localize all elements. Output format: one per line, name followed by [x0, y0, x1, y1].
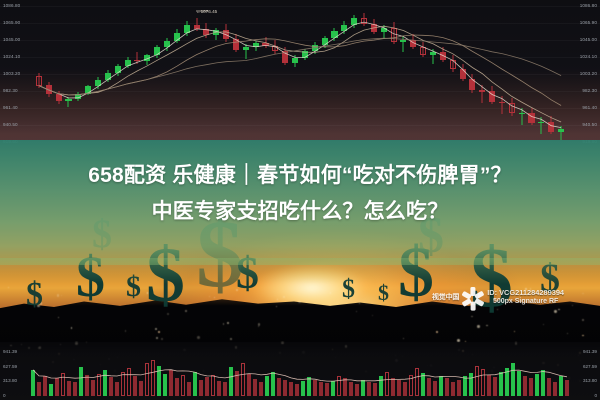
price-axis-tick-right: 961.40	[582, 105, 597, 110]
watermark: 视觉中国 ID: VCG211284289394 500px Signature…	[432, 286, 564, 308]
price-axis-tick-right: 1065.90	[580, 20, 597, 25]
moving-average-line	[39, 22, 561, 128]
headline-line-1: 658配资 乐健康｜春节如何“吃对不伤脾胃”？	[0, 158, 600, 194]
watermark-license: 500px Signature RF	[487, 297, 564, 306]
headline-line-2: 中医专家支招吃什么？怎么吃？	[0, 194, 600, 230]
price-axis-tick-left: 1086.80	[3, 3, 20, 8]
volume-axis-tick-left: 627.59	[3, 364, 17, 369]
watermark-text: ID: VCG211284289394 500px Signature RF	[487, 288, 564, 306]
price-axis-tick-right: 1003.20	[580, 71, 597, 76]
watermark-id: ID: VCG211284289394	[487, 288, 564, 297]
price-axis-tick-left: 940.50	[3, 122, 18, 127]
price-annotation-label: ←1076.45	[196, 9, 217, 14]
price-axis-tick-left: 1045.00	[3, 37, 20, 42]
price-axis-tick-right: 982.30	[582, 88, 597, 93]
asterisk-petal	[474, 298, 484, 307]
green-overlay-fade	[0, 258, 600, 284]
asterisk-petal	[471, 302, 476, 311]
price-axis-tick-right: 940.50	[582, 122, 597, 127]
price-axis-tick-left: 1024.10	[3, 54, 20, 59]
volume-moving-average-line	[0, 342, 600, 400]
moving-average-line	[39, 35, 561, 106]
volume-axis-tick-left: 0	[3, 393, 6, 398]
volume-axis-tick-right: 313.80	[583, 378, 597, 383]
price-axis-tick-right: 1045.00	[580, 37, 597, 42]
asterisk-burst-icon	[462, 286, 484, 308]
volume-axis-tick-left: 941.39	[3, 349, 17, 354]
moving-average-line	[39, 38, 561, 95]
volume-axis-tick-right: 0	[594, 393, 597, 398]
dollar-sign-icon: $	[378, 282, 389, 304]
headline-block: 658配资 乐健康｜春节如何“吃对不伤脾胃”？ 中医专家支招吃什么？怎么吃？	[0, 158, 600, 230]
price-candlestick-chart: 1086.801065.901045.001024.101003.20982.3…	[0, 0, 600, 152]
volume-axis-tick-right: 627.59	[583, 364, 597, 369]
volume-axis-tick-right: 941.39	[583, 349, 597, 354]
price-axis-tick-left: 1065.90	[3, 20, 20, 25]
moving-average-line	[39, 26, 561, 122]
volume-ma-line	[33, 370, 567, 382]
volume-axis-tick-left: 313.80	[3, 378, 17, 383]
price-axis-tick-left: 982.30	[3, 88, 18, 93]
volume-bar-chart: 941.39627.59313.800 941.39627.59313.800	[0, 342, 600, 400]
moving-average-lines	[0, 0, 600, 152]
screenshot-canvas: $$$$$$$$$$$$$ 1086.801065.901045.001024.…	[0, 0, 600, 400]
price-axis-tick-left: 1003.20	[3, 71, 20, 76]
price-axis-tick-right: 1024.10	[580, 54, 597, 59]
price-axis-tick-right: 1086.80	[580, 3, 597, 8]
price-axis-tick-left: 961.40	[3, 105, 18, 110]
watermark-brand-cn: 视觉中国	[432, 292, 459, 302]
